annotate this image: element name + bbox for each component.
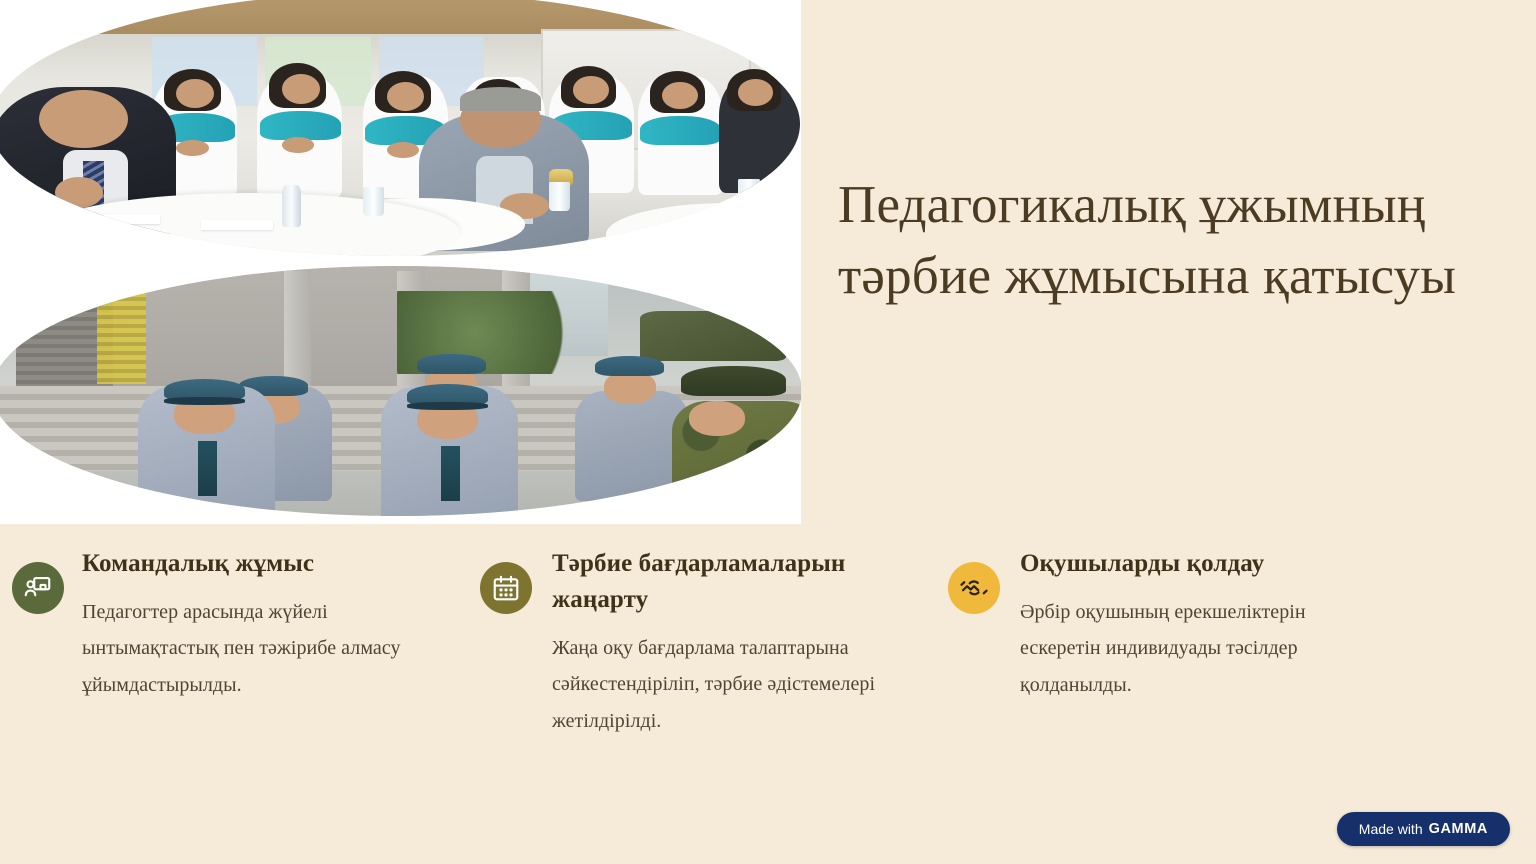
ceremony-photo	[0, 0, 800, 256]
photo-panel	[0, 0, 801, 524]
feature-body: Жаңа оқу бағдарлама талаптарына сәйкесте…	[552, 630, 914, 739]
handshake-support-icon	[948, 562, 1000, 614]
calendar-icon	[480, 562, 532, 614]
cadets-photo	[0, 266, 801, 516]
made-with-gamma-badge[interactable]: Made with GAMMA	[1337, 812, 1510, 846]
badge-brand: GAMMA	[1429, 821, 1488, 837]
feature-card-teamwork: Командалық жұмыс Педагогтер арасында жүй…	[0, 546, 468, 739]
feature-row: Командалық жұмыс Педагогтер арасында жүй…	[0, 546, 1536, 739]
slide-root: Педагогикалық ұжымның тәрбие жұмысына қа…	[0, 0, 1536, 864]
feature-body: Әрбір оқушының ерекшеліктерін ескеретін …	[1020, 594, 1382, 703]
feature-title: Оқушыларды қолдау	[1020, 546, 1382, 582]
feature-title: Тәрбие бағдарламаларын жаңарту	[552, 546, 914, 618]
feature-card-programs: Тәрбие бағдарламаларын жаңарту Жаңа оқу …	[468, 546, 936, 739]
presentation-person-icon	[12, 562, 64, 614]
feature-title: Командалық жұмыс	[82, 546, 446, 582]
feature-body: Педагогтер арасында жүйелі ынтымақтастық…	[82, 594, 446, 703]
feature-card-student-support: Оқушыларды қолдау Әрбір оқушының ерекшел…	[936, 546, 1404, 739]
page-title: Педагогикалық ұжымның тәрбие жұмысына қа…	[838, 170, 1478, 312]
badge-prefix: Made with	[1359, 821, 1423, 837]
